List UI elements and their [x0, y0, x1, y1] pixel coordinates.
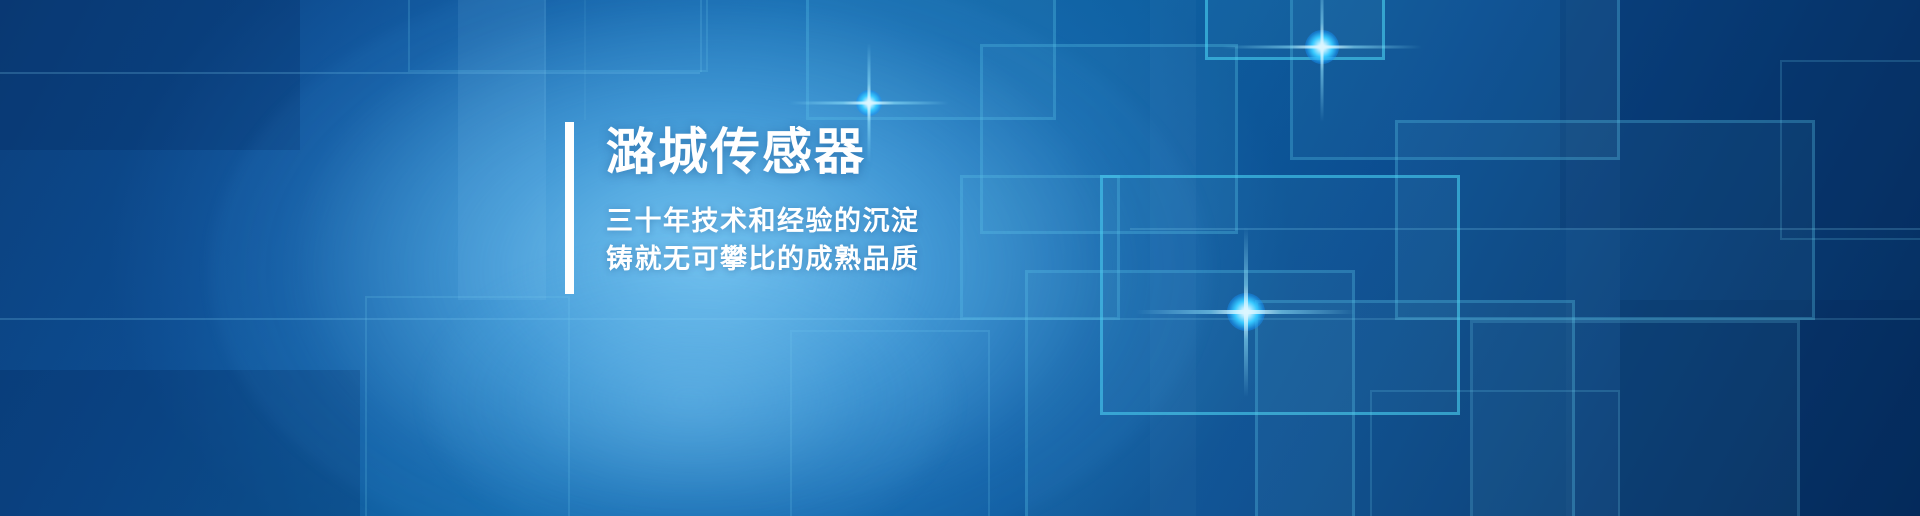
- background-geometry: [0, 0, 1920, 516]
- rect-lower-left-center: [790, 330, 990, 516]
- column-wash-b: [1566, 0, 1620, 516]
- rect-edge-right: [1780, 60, 1920, 240]
- rect-upper-left-open: [408, 0, 708, 72]
- vertical-accent-bar: [565, 122, 574, 294]
- column-wash-a: [1150, 0, 1196, 516]
- banner-subtitle-line-2: 铸就无可攀比的成熟品质: [606, 240, 920, 278]
- band-left-of-text: [458, 0, 546, 300]
- banner-text-column: 潞城传感器 三十年技术和经验的沉淀 铸就无可攀比的成熟品质: [606, 122, 920, 294]
- banner-headline: 潞城传感器: [606, 124, 920, 180]
- corner-wash-top-left: [0, 0, 300, 150]
- banner-subtitle-line-1: 三十年技术和经验的沉淀: [606, 202, 920, 240]
- hero-banner: 潞城传感器 三十年技术和经验的沉淀 铸就无可攀比的成熟品质: [0, 0, 1920, 516]
- banner-text-block: 潞城传感器 三十年技术和经验的沉淀 铸就无可攀比的成熟品质: [565, 122, 920, 294]
- hairline-left-upper: [0, 72, 700, 74]
- corner-wash-bottom-left: [0, 370, 360, 516]
- rect-lower-left: [365, 296, 570, 516]
